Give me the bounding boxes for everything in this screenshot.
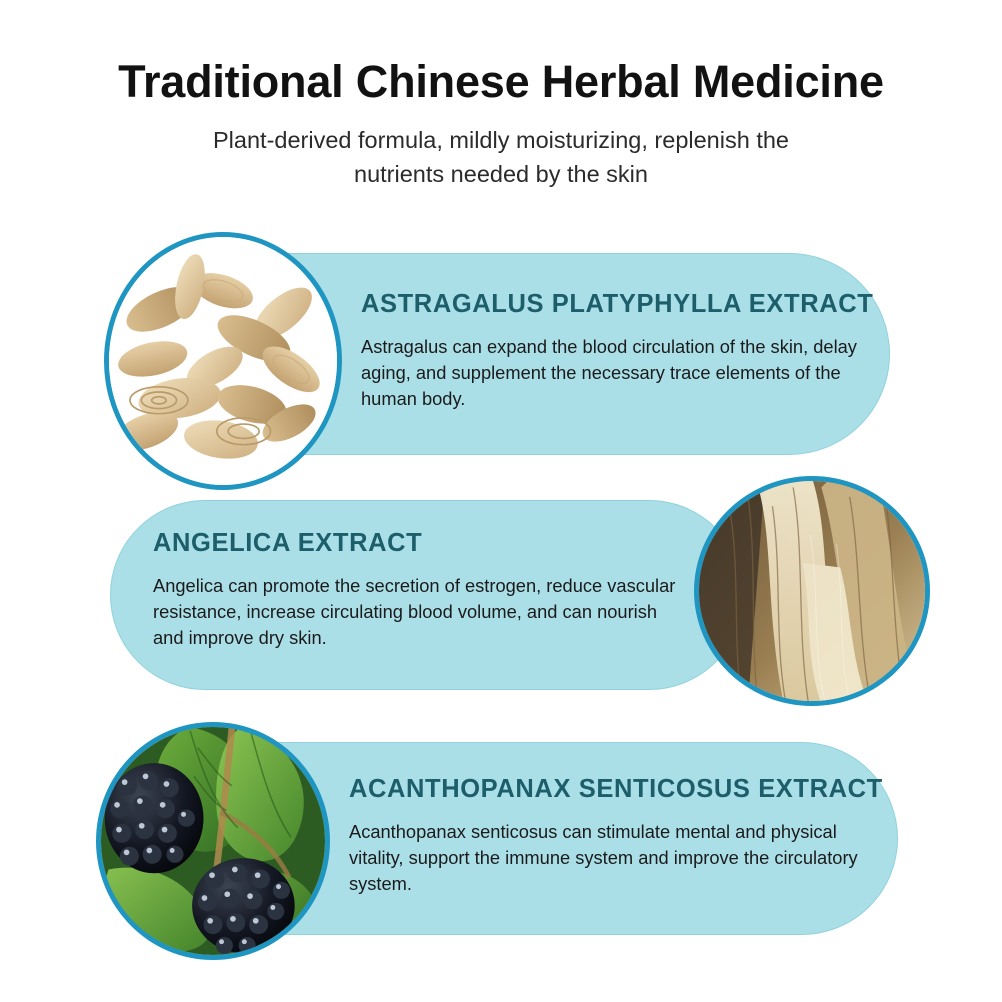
card-title: ACANTHOPANAX SENTICOSUS EXTRACT	[349, 775, 889, 803]
card-description: Acanthopanax senticosus can stimulate me…	[349, 819, 889, 897]
card-text-block: ANGELICA EXTRACT Angelica can promote th…	[153, 529, 683, 651]
ingredient-card-angelica: ANGELICA EXTRACT Angelica can promote th…	[110, 500, 744, 690]
acanthopanax-image-graphic	[101, 727, 325, 955]
page-title: Traditional Chinese Herbal Medicine	[0, 58, 1002, 105]
card-title: ANGELICA EXTRACT	[153, 529, 683, 557]
card-description: Astragalus can expand the blood circulat…	[361, 334, 881, 412]
berry-cluster-upper	[105, 763, 204, 873]
astragalus-root-slices-photo	[104, 232, 342, 490]
page-subtitle: Plant-derived formula, mildly moisturizi…	[181, 123, 821, 191]
card-text-block: ASTRAGALUS PLATYPHYLLA EXTRACT Astragalu…	[361, 290, 881, 412]
angelica-image-graphic	[699, 481, 925, 701]
header: Traditional Chinese Herbal Medicine Plan…	[0, 58, 1002, 191]
astragalus-image-graphic	[109, 237, 337, 485]
card-description: Angelica can promote the secretion of es…	[153, 573, 683, 651]
angelica-root-photo	[694, 476, 930, 706]
herbal-medicine-infographic: Traditional Chinese Herbal Medicine Plan…	[0, 0, 1002, 1002]
acanthopanax-berries-photo	[96, 722, 330, 960]
card-title: ASTRAGALUS PLATYPHYLLA EXTRACT	[361, 290, 881, 318]
card-text-block: ACANTHOPANAX SENTICOSUS EXTRACT Acanthop…	[349, 775, 889, 897]
